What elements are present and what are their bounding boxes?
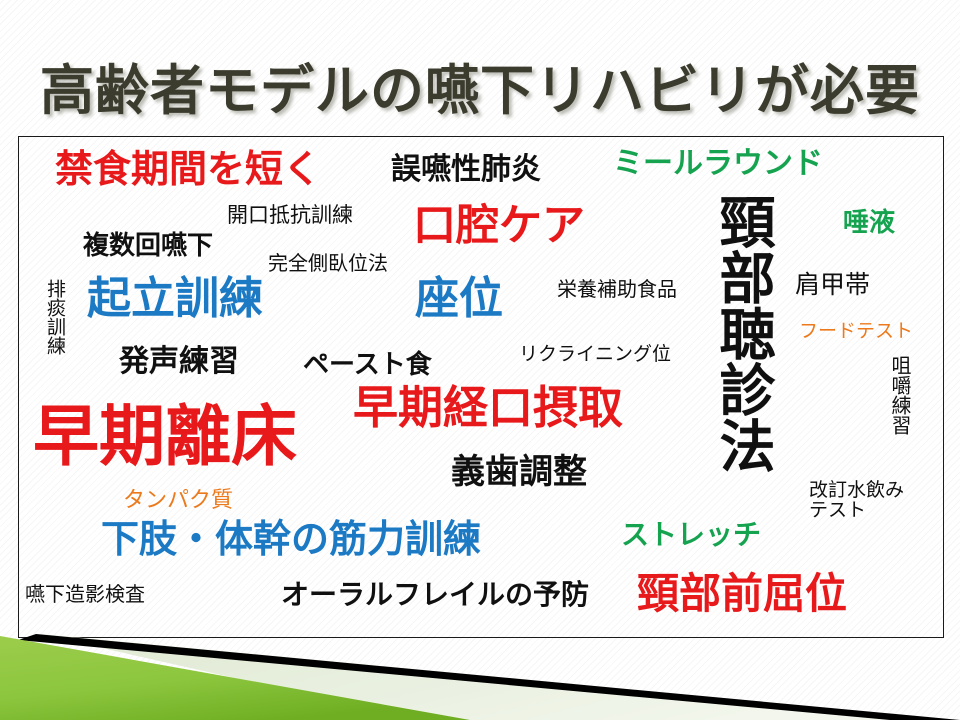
word-cloud-term: タンパク質 — [123, 489, 233, 511]
word-cloud-term: 誤嚥性肺炎 — [391, 155, 541, 185]
word-cloud-term: 栄養補助食品 — [557, 280, 677, 300]
word-cloud-term: 早期離床 — [33, 403, 297, 469]
word-cloud-term: 早期経口摂取 — [353, 385, 623, 430]
word-cloud-term: 完全側臥位法 — [268, 254, 388, 274]
word-cloud-term: 嚥下造影検査 — [25, 585, 145, 605]
word-cloud-term: 肩甲帯 — [795, 273, 870, 298]
deco-black-stripe — [18, 634, 960, 720]
word-cloud-term: 義歯調整 — [451, 455, 587, 489]
word-cloud-term: 排痰訓練 — [45, 279, 64, 355]
word-cloud-term: 頸部前屈位 — [637, 573, 847, 615]
word-cloud-term: 頸部聴診法 — [715, 193, 771, 473]
page-title: 高齢者モデルの嚥下リハビリが必要 — [0, 46, 960, 125]
word-cloud-term: フードテスト — [799, 322, 913, 341]
word-cloud-term: ペースト食 — [303, 351, 432, 377]
word-cloud-term: 開口抵抗訓練 — [227, 205, 353, 226]
word-cloud-term: オーラルフレイルの予防 — [281, 581, 589, 609]
word-cloud-term: 発声練習 — [119, 347, 239, 377]
word-cloud-term: リクライニング位 — [519, 345, 671, 364]
word-cloud-term: 改訂水飲みテスト — [809, 481, 919, 521]
deco-green-wedge — [0, 636, 470, 720]
bottom-decoration — [0, 634, 960, 720]
word-cloud-term: 禁食期間を短く — [55, 151, 321, 189]
word-cloud-term: ストレッチ — [621, 521, 761, 549]
word-cloud-term: 座位 — [415, 277, 503, 321]
word-cloud-term: 起立訓練 — [87, 277, 263, 321]
deco-pale-wedge — [40, 634, 960, 720]
word-cloud-term: ミールラウンド — [613, 149, 823, 179]
word-cloud-term: 咀嚼練習 — [889, 355, 909, 435]
word-cloud-term: 唾液 — [843, 209, 895, 235]
word-cloud-term: 口腔ケア — [413, 205, 585, 248]
word-cloud-term: 下肢・体幹の筋力訓練 — [101, 521, 481, 559]
word-cloud-frame: 禁食期間を短く誤嚥性肺炎ミールラウンド開口抵抗訓練口腔ケア唾液複数回嚥下完全側臥… — [18, 136, 944, 638]
word-cloud-term: 複数回嚥下 — [83, 232, 213, 258]
slide-canvas: 高齢者モデルの嚥下リハビリが必要 禁食期間を短く誤嚥性肺炎ミールラウンド開口抵抗… — [0, 0, 960, 720]
